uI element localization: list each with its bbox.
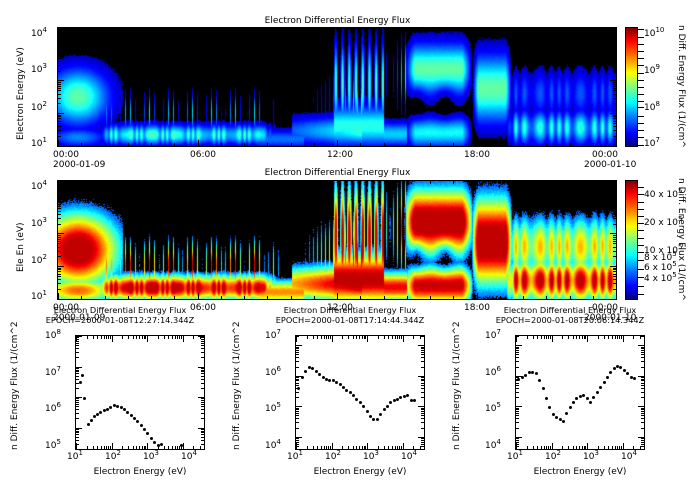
data-point [572, 401, 575, 404]
x-axis-tick [523, 296, 524, 299]
y-axis-tick [201, 434, 204, 435]
y-tick-label: 102 [31, 256, 47, 266]
y-axis-tick [201, 400, 204, 401]
x-axis-tick [142, 446, 143, 449]
y-axis-tick [76, 388, 79, 389]
spectrum-plot-right [515, 335, 645, 450]
x-axis-tick [105, 181, 106, 184]
y-axis-tick [613, 283, 616, 284]
y-axis-tick [641, 383, 644, 384]
y-axis-tick [613, 191, 616, 192]
y-axis-tick [58, 146, 64, 147]
x-axis-tick [523, 181, 524, 184]
x-tick-label: 101 [287, 452, 303, 462]
y-axis-tick [58, 103, 61, 104]
x-axis-tick [548, 336, 549, 339]
x-axis-tick [198, 140, 199, 146]
y-axis-tick [58, 237, 61, 238]
x-axis-tick [174, 181, 175, 184]
y-axis-tick [296, 376, 302, 377]
data-point [328, 379, 331, 382]
y-axis-tick [58, 276, 61, 277]
y-tick-label: 106 [265, 368, 281, 378]
data-point [403, 395, 406, 398]
x-axis-tick [330, 446, 331, 449]
y-axis-tick [641, 446, 644, 447]
y-axis-tick [76, 428, 82, 429]
y-tick-label: 106 [45, 404, 61, 414]
x-axis-tick [359, 336, 360, 339]
colorbar-tick [638, 216, 644, 217]
y-axis-tick [296, 440, 299, 441]
x-axis-tick [328, 446, 329, 449]
x-axis-tick [172, 446, 173, 449]
data-point [376, 418, 379, 421]
data-point [355, 398, 358, 401]
y-axis-tick [76, 379, 79, 380]
x-axis-tick [407, 181, 408, 184]
x-axis-tick [105, 296, 106, 299]
y-axis-tick [641, 413, 644, 414]
x-axis-tick [360, 28, 361, 31]
x-axis-tick [612, 336, 613, 339]
y-axis-tick [76, 406, 79, 407]
y-axis-tick [421, 367, 424, 368]
y-axis-tick [516, 428, 519, 429]
y-axis-tick [613, 206, 616, 207]
y-axis-tick [613, 276, 616, 277]
data-point [386, 405, 389, 408]
data-point [143, 428, 146, 431]
y-axis-tick [516, 446, 519, 447]
data-point [565, 412, 568, 415]
y-axis-tick [76, 376, 79, 377]
spectrum-epoch: EPOCH=2000-01-08T20:06:14.344Z [460, 315, 680, 325]
colorbar-top [625, 27, 638, 147]
y-axis-tick [58, 98, 61, 99]
y-axis-tick [641, 347, 644, 348]
y-axis-tick [613, 116, 616, 117]
y-axis-tick [421, 352, 424, 353]
x-axis-tick [151, 181, 152, 184]
colorbar-label-middle: n Diff. Energy Flux (1/(cm^ [676, 178, 686, 301]
x-axis-tick [104, 336, 105, 339]
colorbar-tick [638, 252, 644, 253]
y-axis-tick [76, 371, 79, 372]
data-point [548, 406, 551, 409]
y-axis-tick [76, 397, 82, 398]
colorbar-tick [638, 286, 644, 287]
colorbar-tick [638, 123, 644, 124]
y-axis-tick [613, 239, 616, 240]
y-axis-tick [638, 406, 644, 407]
x-axis-tick [106, 446, 107, 449]
y-axis-tick [58, 53, 61, 54]
x-axis-tick [175, 446, 176, 449]
x-tick-label: 104 [181, 452, 197, 462]
y-axis-tick [613, 243, 616, 244]
data-point [538, 379, 541, 382]
x-axis-tick [179, 336, 180, 339]
y-axis-tick [201, 337, 204, 338]
x-axis-tick [204, 446, 205, 449]
data-point [606, 376, 609, 379]
y-axis-tick [58, 201, 64, 202]
x-axis-tick [585, 336, 586, 339]
spectrum-x-label: Electron Energy (eV) [295, 467, 425, 477]
y-axis-tick [516, 409, 519, 410]
y-axis-tick [641, 440, 644, 441]
y-axis-tick [613, 211, 616, 212]
x-axis-tick [453, 143, 454, 146]
y-axis-tick [201, 339, 204, 340]
x-tick-label: 102 [325, 452, 341, 462]
x-axis-tick [112, 336, 113, 342]
y-axis-tick [201, 368, 204, 369]
x-axis-tick [367, 443, 368, 449]
x-axis-tick [291, 296, 292, 299]
x-tick-label: 104 [401, 452, 417, 462]
y-axis-tick [201, 404, 204, 405]
x-axis-tick [177, 446, 178, 449]
x-axis-tick [139, 336, 140, 339]
colorbar-tick [638, 37, 644, 38]
data-point [362, 405, 365, 408]
x-axis-tick [314, 296, 315, 299]
y-axis-tick [198, 428, 204, 429]
y-axis-tick [58, 65, 61, 66]
y-axis-tick [613, 204, 616, 205]
x-axis-tick [544, 336, 545, 339]
x-axis-tick [550, 446, 551, 449]
y-axis-tick [421, 336, 424, 337]
y-axis-tick [58, 247, 61, 248]
data-point [146, 432, 149, 435]
x-axis-tick [168, 446, 169, 449]
y-axis-tick [58, 279, 61, 280]
x-axis-tick [112, 443, 113, 449]
y-axis-tick [58, 191, 61, 192]
x-axis-tick [183, 443, 184, 449]
y-axis-tick [641, 411, 644, 412]
x-axis-tick [324, 446, 325, 449]
y-axis-tick [201, 341, 204, 342]
y-axis-tick [516, 348, 519, 349]
y-axis-tick [516, 413, 519, 414]
x-axis-tick [356, 336, 357, 339]
y-axis-tick [201, 444, 204, 445]
y-axis-tick [638, 376, 644, 377]
y-axis-tick [201, 402, 204, 403]
data-point [633, 377, 636, 380]
x-axis-tick [392, 336, 393, 339]
x-axis-tick [204, 336, 205, 339]
y-axis-tick [613, 130, 616, 131]
x-axis-tick [407, 143, 408, 146]
y-axis-tick [76, 434, 79, 435]
y-axis-tick [421, 413, 424, 414]
y-axis-tick [613, 235, 616, 236]
x-tick-label: 102 [105, 452, 121, 462]
y-axis-tick [641, 336, 644, 337]
x-axis-tick [172, 336, 173, 339]
data-point [592, 396, 595, 399]
y-axis-tick [58, 214, 61, 215]
y-axis-tick [613, 82, 616, 83]
x-axis-tick [587, 336, 588, 342]
y-axis-tick [421, 357, 424, 358]
x-axis-tick [392, 446, 393, 449]
x-tick-label: 101 [67, 452, 83, 462]
y-axis-tick [610, 201, 616, 202]
y-axis-tick [613, 88, 616, 89]
x-axis-tick [621, 336, 622, 339]
y-axis-tick [201, 409, 204, 410]
x-axis-tick [181, 336, 182, 339]
x-axis-tick [321, 336, 322, 339]
x-axis-tick [198, 181, 199, 187]
y-axis-tick [296, 415, 299, 416]
x-axis-tick [128, 181, 129, 184]
y-axis-tick [58, 84, 61, 85]
y-axis-tick [613, 90, 616, 91]
y-axis-tick [641, 361, 644, 362]
spectrum-y-label: n Diff. Energy Flux (1/(cm^2 [452, 321, 462, 450]
y-axis-tick [76, 398, 79, 399]
y-axis-tick [641, 449, 644, 450]
y-axis-tick [201, 373, 204, 374]
y-axis-label-middle: Ele En (eV) [16, 222, 26, 272]
y-axis-tick [198, 336, 204, 337]
data-point [311, 367, 314, 370]
y-axis-tick [421, 383, 424, 384]
x-axis-tick [267, 181, 268, 184]
x-axis-tick [104, 446, 105, 449]
y-axis-tick [516, 380, 519, 381]
spectrum-title: Electron Differential Energy Flux [240, 305, 460, 315]
y-axis-tick [76, 368, 79, 369]
y-axis-tick [421, 380, 424, 381]
y-axis-tick [516, 397, 519, 398]
x-axis-tick [500, 28, 501, 31]
x-axis-tick [546, 446, 547, 449]
x-axis-tick [244, 143, 245, 146]
y-axis-tick [76, 400, 79, 401]
x-axis-tick [353, 446, 354, 449]
y-axis-tick [201, 345, 204, 346]
y-axis-tick [201, 371, 204, 372]
y-axis-tick [201, 406, 204, 407]
x-axis-tick [395, 446, 396, 449]
x-axis-tick [330, 336, 331, 339]
y-tick-label: 104 [265, 441, 281, 451]
y-tick-label: 101 [31, 292, 47, 302]
y-axis-tick [58, 235, 61, 236]
y-axis-tick [201, 343, 204, 344]
x-tick-label: 00:00 [53, 150, 79, 160]
data-point [140, 424, 143, 427]
x-axis-tick [221, 143, 222, 146]
x-axis-tick [139, 446, 140, 449]
y-axis-tick [296, 379, 299, 380]
x-axis-tick [407, 28, 408, 31]
colorbar-tick [638, 29, 644, 30]
x-axis-tick [365, 446, 366, 449]
y-axis-tick [76, 337, 79, 338]
x-axis-tick [579, 336, 580, 339]
y-axis-tick [296, 348, 299, 349]
y-axis-tick [58, 204, 61, 205]
y-axis-tick [421, 449, 424, 450]
y-axis-tick [201, 357, 204, 358]
x-axis-tick [365, 336, 366, 339]
x-axis-tick [101, 336, 102, 339]
y-axis-tick [641, 397, 644, 398]
x-axis-tick [604, 446, 605, 449]
x-axis-tick [177, 336, 178, 339]
y-axis-tick [58, 113, 64, 114]
y-axis-tick [421, 348, 424, 349]
x-axis-tick [175, 336, 176, 339]
y-axis-tick [641, 348, 644, 349]
x-axis-tick [105, 28, 106, 31]
y-axis-tick [58, 289, 61, 290]
x-axis-tick [527, 446, 528, 449]
y-axis-tick [613, 103, 616, 104]
y-axis-tick [516, 377, 519, 378]
y-axis-tick [58, 274, 61, 275]
y-axis-tick [296, 397, 299, 398]
y-axis-tick [201, 418, 204, 419]
colorbar-tick [638, 116, 644, 117]
x-axis-tick [593, 143, 594, 146]
y-axis-tick [198, 397, 204, 398]
x-axis-tick [164, 446, 165, 449]
x-axis-tick [582, 446, 583, 449]
x-axis-tick [401, 336, 402, 339]
x-axis-tick [321, 446, 322, 449]
x-axis-tick [548, 446, 549, 449]
y-axis-tick [421, 440, 424, 441]
x-axis-tick [585, 446, 586, 449]
y-axis-tick [58, 55, 61, 56]
x-axis-tick [81, 296, 82, 299]
x-axis-tick [221, 296, 222, 299]
x-axis-tick [267, 143, 268, 146]
x-tick-label: 101 [507, 452, 523, 462]
y-axis-tick [201, 383, 204, 384]
y-axis-tick [58, 218, 61, 219]
y-axis-tick [613, 94, 616, 95]
y-axis-label-top: Electron Energy (eV) [16, 47, 26, 140]
y-axis-tick [516, 444, 519, 445]
x-axis-tick [617, 336, 618, 339]
x-axis-tick [244, 296, 245, 299]
y-axis-tick [201, 440, 204, 441]
y-axis-tick [76, 432, 79, 433]
x-axis-tick [133, 336, 134, 339]
y-axis-tick [58, 126, 61, 127]
x-axis-tick [193, 336, 194, 339]
y-axis-tick [296, 406, 302, 407]
y-tick-label: 107 [45, 368, 61, 378]
colorbar-tick [638, 230, 644, 231]
x-axis-tick [147, 336, 148, 342]
x-axis-tick [619, 446, 620, 449]
y-axis-tick [76, 345, 79, 346]
y-axis-tick [613, 214, 616, 215]
data-point [366, 410, 369, 413]
y-axis-tick [641, 352, 644, 353]
x-axis-tick [158, 336, 159, 339]
y-axis-tick [201, 437, 204, 438]
x-axis-tick [593, 181, 594, 184]
y-axis-tick [58, 202, 61, 203]
y-axis-tick [296, 354, 299, 355]
y-axis-tick [516, 347, 519, 348]
x-axis-tick [552, 443, 553, 449]
y-axis-tick [641, 442, 644, 443]
spectrum-x-label: Electron Energy (eV) [515, 467, 645, 477]
y-axis-tick [76, 343, 79, 344]
y-tick-label: 108 [45, 331, 61, 341]
x-axis-tick [337, 293, 338, 299]
y-tick-label: 103 [31, 219, 47, 229]
x-axis-tick [533, 446, 534, 449]
y-axis-tick [58, 271, 61, 272]
data-point [153, 441, 156, 444]
x-axis-tick [291, 143, 292, 146]
x-axis-tick [313, 336, 314, 339]
y-tick-label: 105 [265, 404, 281, 414]
y-axis-tick [58, 118, 61, 119]
y-axis-tick [58, 49, 61, 50]
y-axis-tick [58, 136, 61, 137]
x-axis-tick [337, 28, 338, 34]
x-axis-tick [151, 143, 152, 146]
y-tick-label: 102 [31, 103, 47, 113]
y-axis-tick [641, 409, 644, 410]
y-axis-tick [296, 350, 299, 351]
y-axis-tick [76, 402, 79, 403]
y-axis-tick [201, 376, 204, 377]
x-axis-tick [136, 336, 137, 339]
y-axis-tick [610, 299, 616, 300]
y-axis-tick [516, 422, 519, 423]
data-point [389, 401, 392, 404]
y-axis-tick [613, 86, 616, 87]
y-axis-tick [296, 347, 299, 348]
x-axis-tick [81, 143, 82, 146]
x-axis-tick [403, 336, 404, 342]
x-axis-tick [145, 336, 146, 339]
y-axis-tick [58, 239, 61, 240]
y-axis-tick [421, 388, 424, 389]
y-axis-tick [613, 268, 616, 269]
data-point [406, 394, 409, 397]
y-axis-tick [613, 121, 616, 122]
x-axis-tick [198, 293, 199, 299]
y-axis-tick [516, 379, 519, 380]
y-axis-tick [58, 243, 61, 244]
y-axis-tick [76, 409, 79, 410]
y-axis-tick [613, 53, 616, 54]
y-axis-tick [296, 367, 299, 368]
x-tick-label: 12:00 [327, 150, 353, 160]
y-axis-tick [296, 388, 299, 389]
y-axis-tick [516, 408, 519, 409]
y-axis-tick [296, 383, 299, 384]
